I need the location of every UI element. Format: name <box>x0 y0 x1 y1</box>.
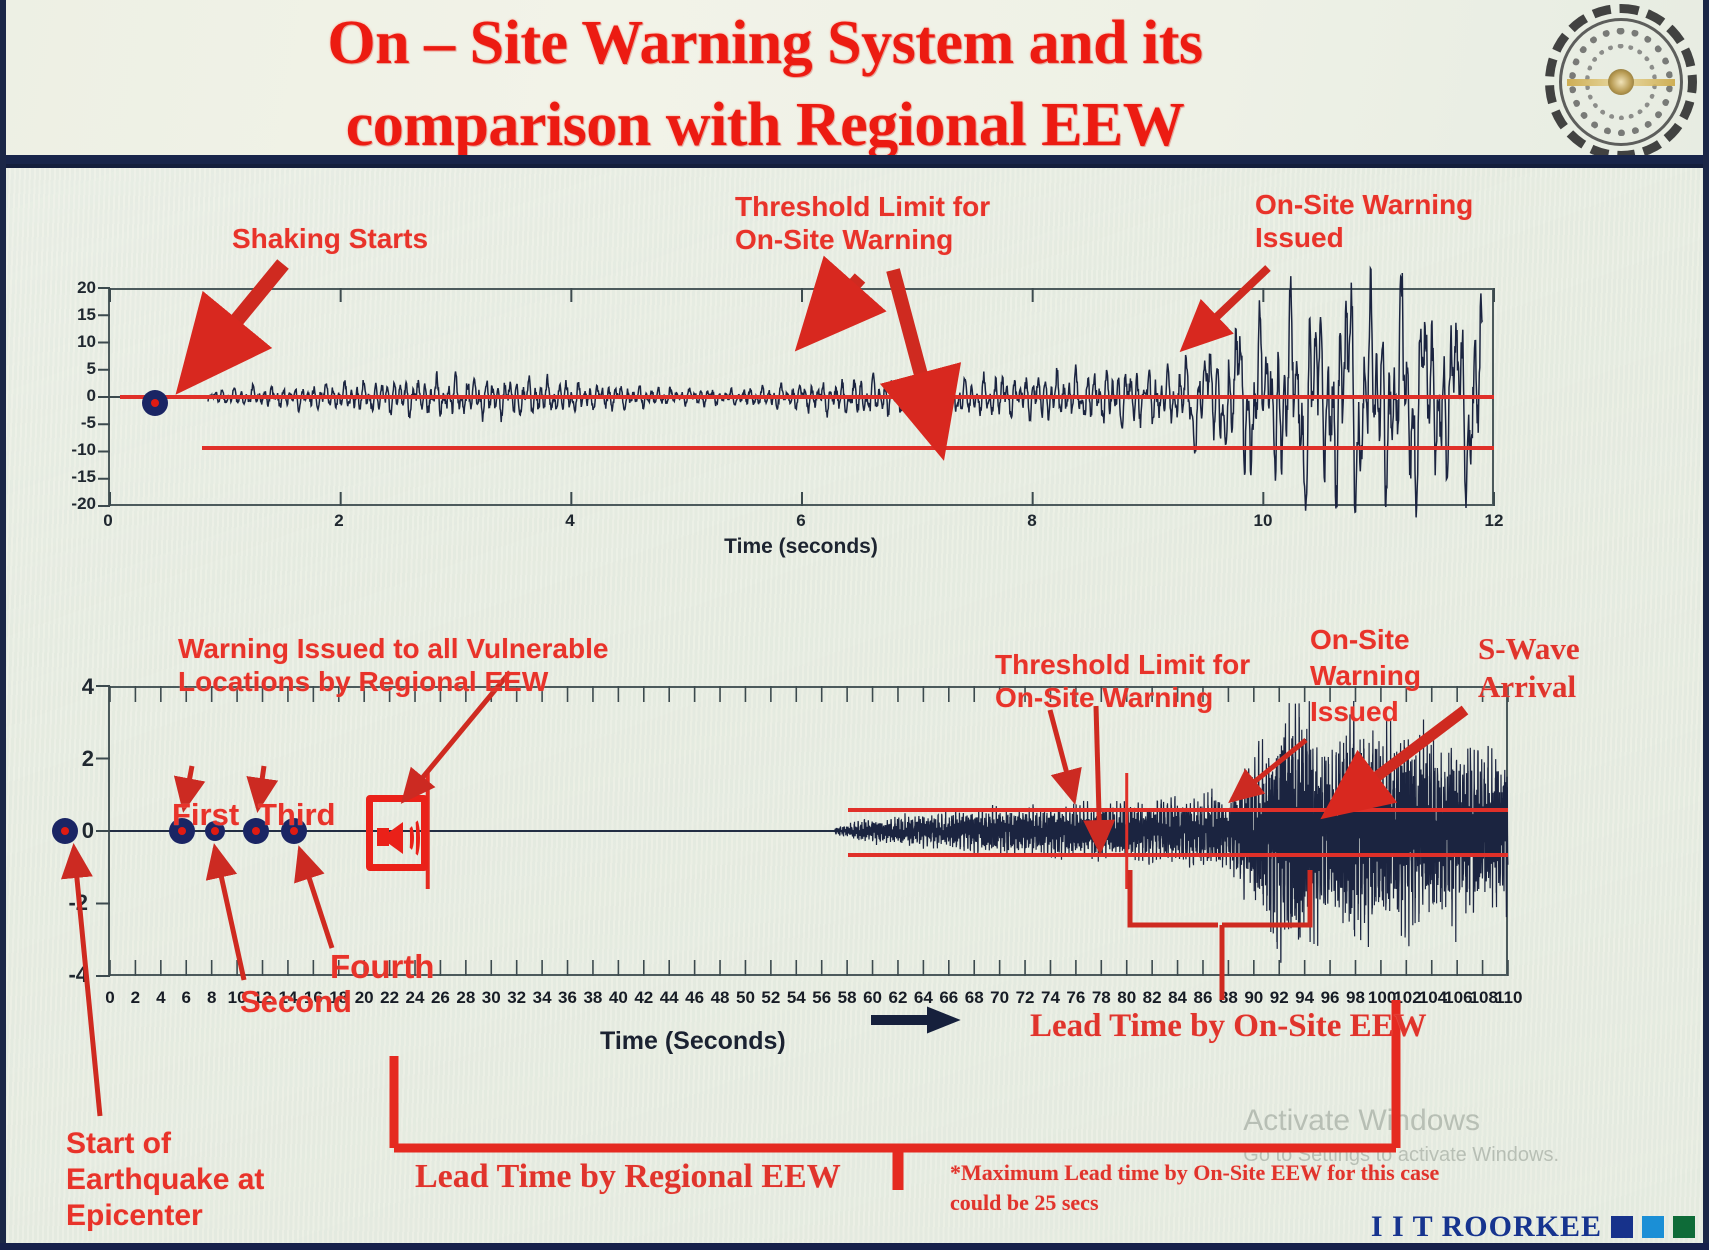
anno-footnote: *Maximum Lead time by On-Site EEW for th… <box>950 1158 1439 1218</box>
page-title-line1: On – Site Warning System and its <box>120 2 1410 84</box>
page-title: On – Site Warning System and its compari… <box>120 2 1410 166</box>
anno-third: Third <box>258 798 336 831</box>
anno-lead-time-regional: Lead Time by Regional EEW <box>415 1160 841 1193</box>
chart2-marker-epicenter <box>52 818 78 844</box>
chart1-threshold-upper <box>120 395 1494 399</box>
anno-chart1-threshold: Threshold Limit for On-Site Warning <box>735 190 990 256</box>
slide-header: On – Site Warning System and its compari… <box>0 0 1709 168</box>
slide-border-right <box>1703 0 1709 1250</box>
footer-square-darkblue <box>1611 1216 1633 1238</box>
slide-border-bottom <box>0 1243 1709 1250</box>
anno-second: Second <box>240 985 352 1018</box>
footer-institute-name: I I T ROORKEE <box>1371 1210 1602 1244</box>
anno-chart2-threshold: Threshold Limit for On-Site Warning <box>995 648 1250 714</box>
slide-border-left <box>0 0 6 1250</box>
anno-start-of-earthquake: Start of Earthquake at Epicenter <box>66 1126 264 1234</box>
footer-square-lightblue <box>1642 1216 1664 1238</box>
anno-fourth: Fourth <box>330 950 434 983</box>
slide-canvas: On – Site Warning System and its compari… <box>0 0 1709 1250</box>
anno-chart1-warning-issued: On-Site Warning Issued <box>1255 188 1473 254</box>
anno-shaking-starts: Shaking Starts <box>232 222 428 255</box>
chart2-threshold-upper <box>848 808 1508 812</box>
iit-roorkee-emblem-icon <box>1545 4 1697 160</box>
chart1-threshold-lower <box>202 446 1494 450</box>
page-title-line2: comparison with Regional EEW <box>120 84 1410 166</box>
anno-first: First <box>172 798 239 831</box>
footer-square-green <box>1673 1216 1695 1238</box>
header-divider <box>0 155 1709 164</box>
anno-lead-time-onsite: Lead Time by On-Site EEW <box>1030 1010 1427 1043</box>
anno-regional-warning: Warning Issued to all Vulnerable Locatio… <box>178 632 608 698</box>
warning-speaker-icon <box>366 795 428 871</box>
anno-chart2-warning-issued: On-Site Warning Issued <box>1310 622 1421 730</box>
footer-branding: I I T ROORKEE <box>1371 1210 1695 1244</box>
anno-s-wave-arrival: S-Wave Arrival <box>1478 630 1580 706</box>
chart1-shaking-start-marker <box>142 390 168 416</box>
chart2-threshold-lower <box>848 853 1508 857</box>
